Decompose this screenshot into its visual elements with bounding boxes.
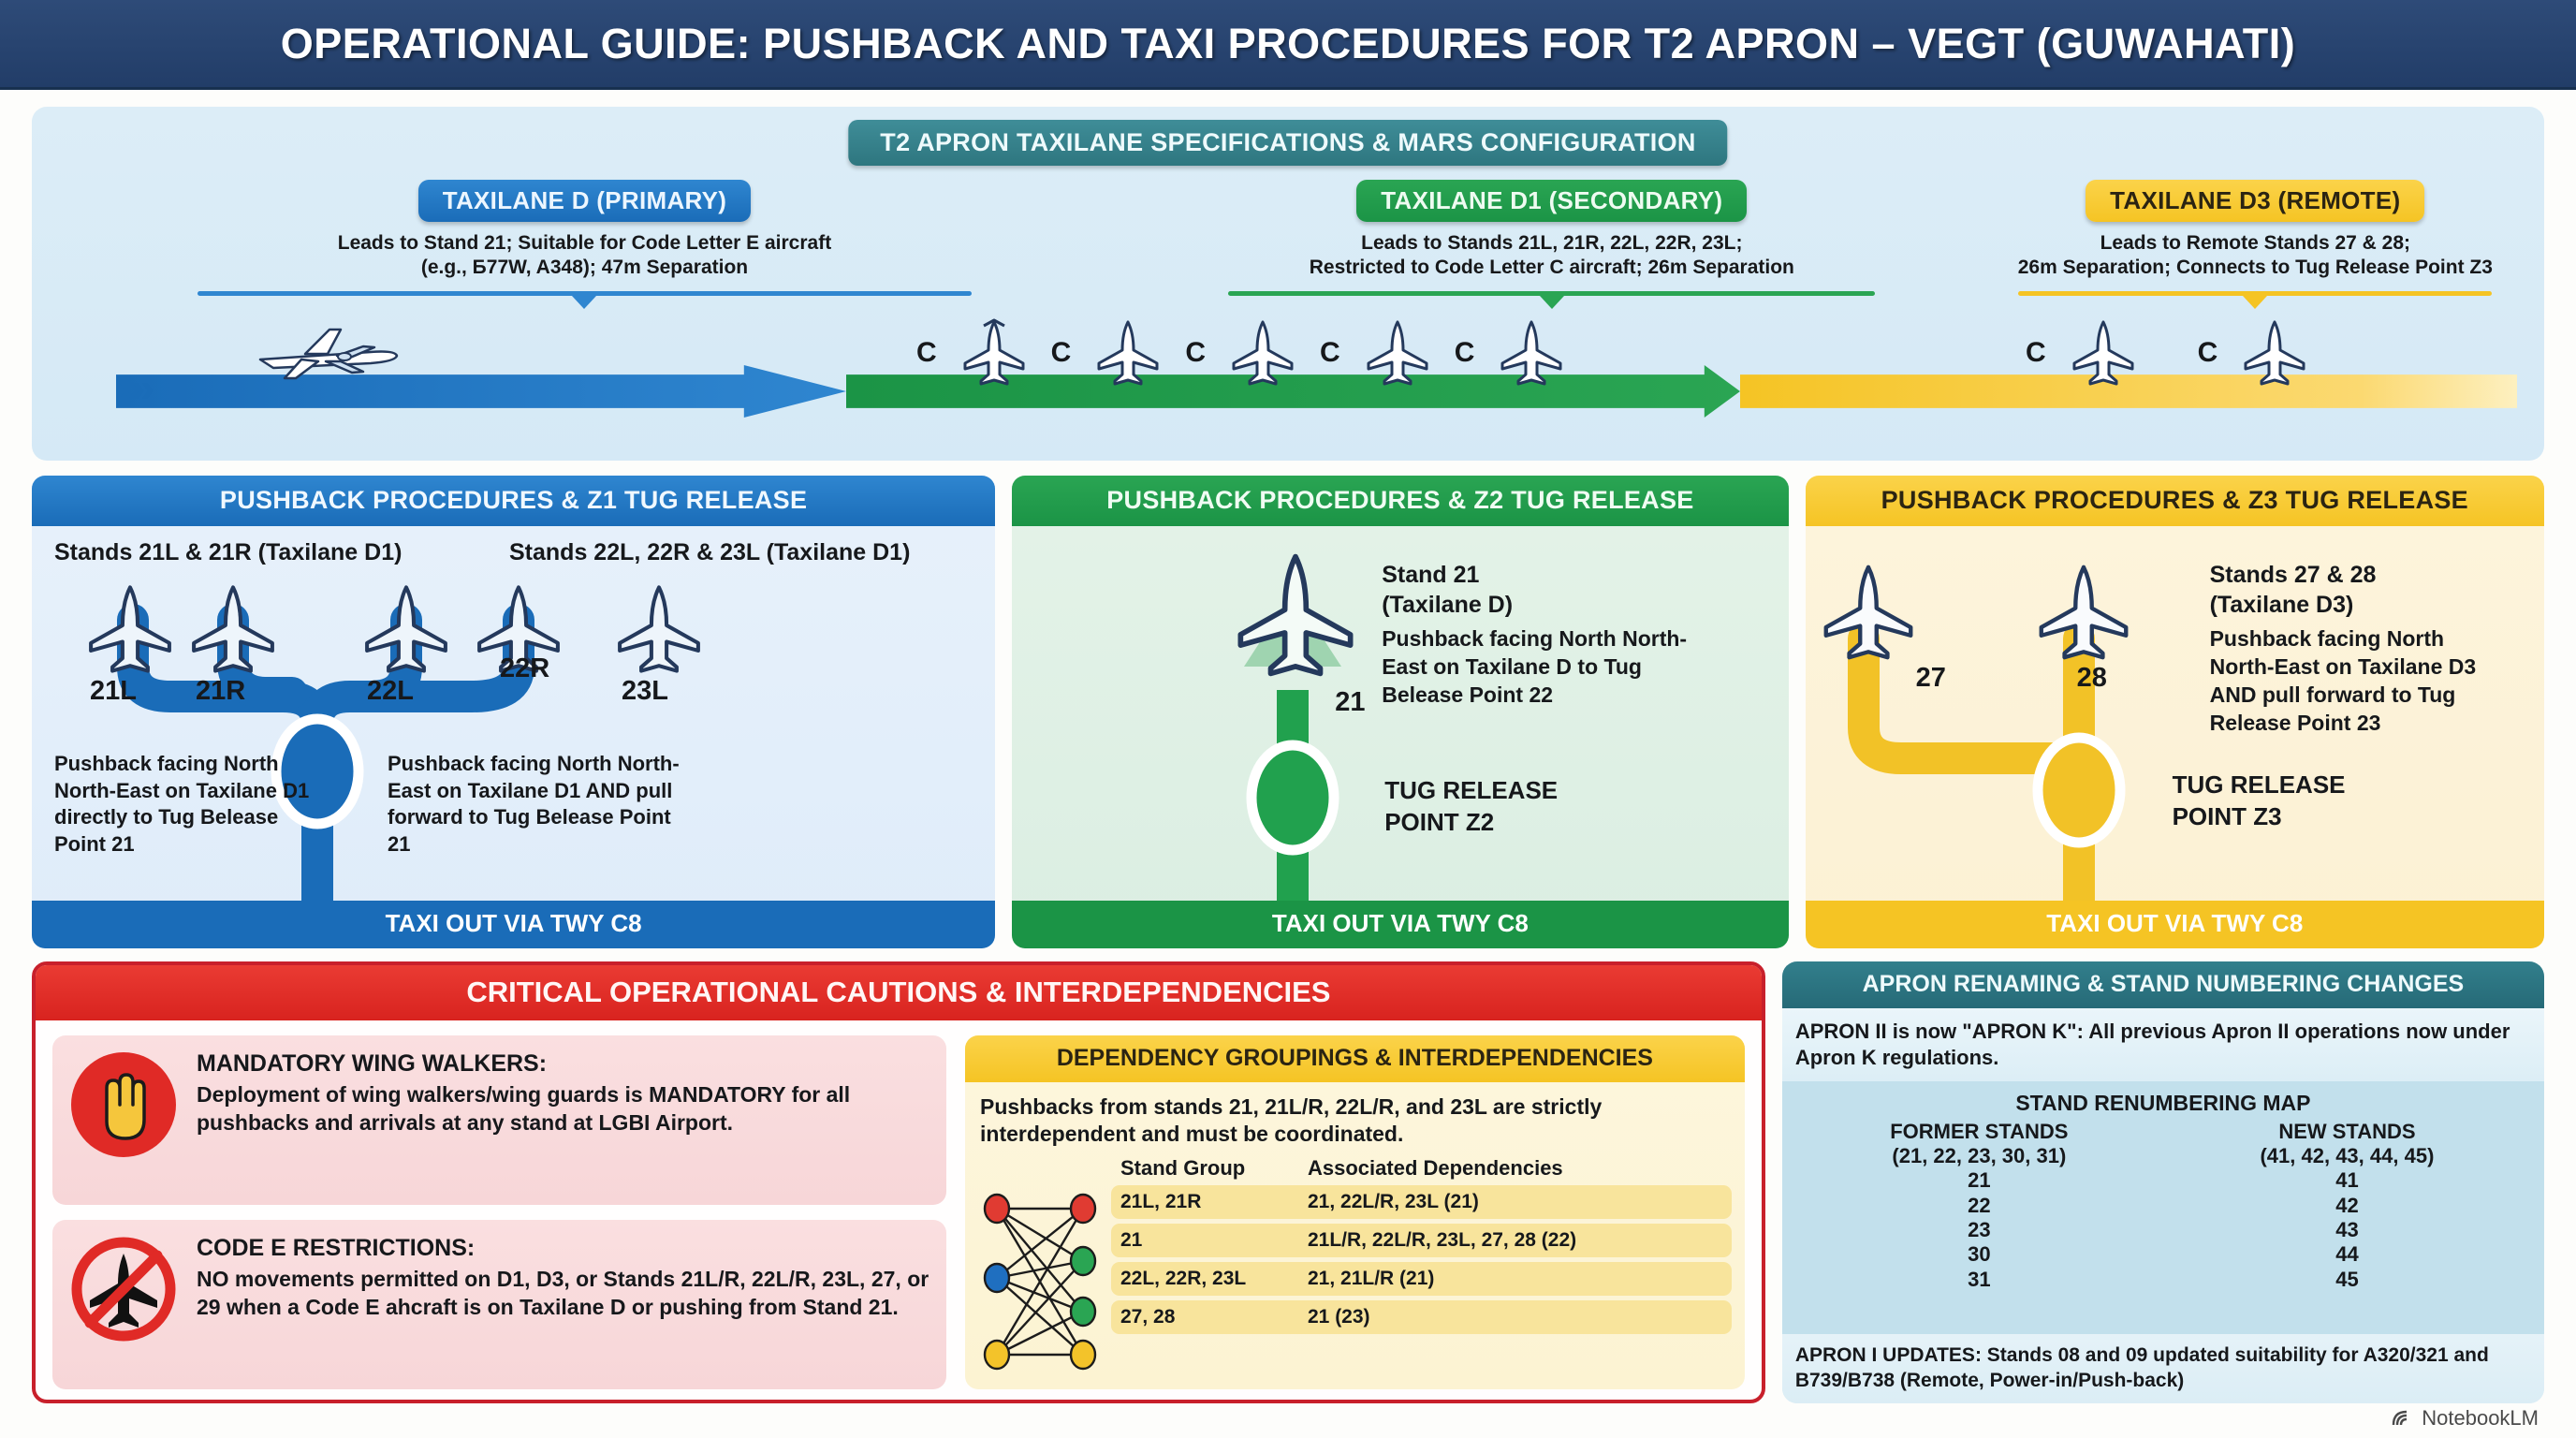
stand-label-28: 28 (2077, 663, 2107, 694)
renumber-row-3-new: 44 (2171, 1242, 2524, 1267)
infographic-page: OPERATIONAL GUIDE: PUSHBACK AND TAXI PRO… (0, 0, 2576, 1438)
z1-group-a-title: Stands 21L & 21R (Taxilane D1) (54, 539, 402, 566)
caution-code-e: CODE E RESTRICTIONS: NO movements permit… (52, 1220, 946, 1389)
taxilane-d1-notch-icon (1540, 296, 1564, 309)
dependency-row-0-group: 21L, 21R (1120, 1191, 1308, 1213)
taxilane-d1-desc-line1: Leads to Stands 21L, 21R, 22L, 22R, 23L; (1137, 231, 1967, 256)
caution-wing-walkers-text-block: MANDATORY WING WALKERS: Deployment of wi… (197, 1050, 929, 1137)
dependency-table: Stand Group Associated Dependencies 21L,… (1111, 1156, 1732, 1380)
panel-z1-body: Stands 21L & 21R (Taxilane D1) Stands 22… (32, 526, 995, 901)
table-row: 21 41 (1795, 1168, 2531, 1193)
panel-z2-body: 21 Stand 21 (Taxilane D) Pushback facing… (1012, 526, 1788, 901)
taxilane-d3-notch-icon (2243, 296, 2267, 309)
renumber-row-4-former: 31 (1803, 1268, 2156, 1292)
z3-release-line2: POINT Z3 (2173, 803, 2282, 831)
z2-route-label: 21 (1335, 687, 1365, 718)
aircraft-stand-22l-icon (355, 582, 458, 676)
stand-label-22r: 22R (500, 653, 549, 684)
dependency-title: DEPENDENCY GROUPINGS & INTERDEPENDENCIES (965, 1035, 1745, 1082)
hand-stop-icon (69, 1050, 178, 1164)
critical-cautions-panel: CRITICAL OPERATIONAL CAUTIONS & INTERDEP… (32, 961, 1765, 1403)
pushback-procedure-panels: PUSHBACK PROCEDURES & Z1 TUG RELEASE Sta… (32, 476, 2544, 948)
renumber-row-0-new: 41 (2171, 1168, 2524, 1193)
panel-z3: PUSHBACK PROCEDURES & Z3 TUG RELEASE 27 … (1806, 476, 2544, 948)
stand-renumbering-map: STAND RENUMBERING MAP FORMER STANDS (21,… (1782, 1081, 2544, 1334)
cautions-column: MANDATORY WING WALKERS: Deployment of wi… (52, 1035, 946, 1389)
taxilane-d3-desc-line2: 26m Separation; Connects to Tug Release … (1967, 256, 2544, 280)
dependency-intro: Pushbacks from stands 21, 21L/R, 22L/R, … (965, 1082, 1745, 1156)
apron-footer-note: APRON I UPDATES: Stands 08 and 09 update… (1782, 1334, 2544, 1403)
code-letter-c-4: C (1320, 337, 1340, 369)
taxilane-specifications-panel: T2 APRON TAXILANE SPECIFICATIONS & MARS … (32, 107, 2544, 461)
notebooklm-logo-icon (2390, 1406, 2414, 1431)
z3-stand-lane: (Taxilane D3) (2210, 592, 2354, 619)
taxilane-d-desc-line2: (e.g., Б77W, A348); 47m Separation (32, 256, 1137, 280)
apron-note: APRON II is now "APRON K": All previous … (1782, 1008, 2544, 1081)
taxilane-d-description: Leads to Stand 21; Suitable for Code Let… (32, 231, 1137, 280)
code-letter-c-5: C (1455, 337, 1475, 369)
taxilane-d1-pill: TAXILANE D1 (SECONDARY) (1356, 180, 1747, 222)
table-row: 27, 28 21 (23) (1111, 1300, 1732, 1334)
aircraft-top-icon-d3-1 (2067, 318, 2140, 388)
aircraft-top-icon-d3-2 (2238, 318, 2311, 388)
aircraft-top-icon-2 (1091, 318, 1164, 388)
table-row: 30 44 (1795, 1242, 2531, 1267)
taxilane-d-desc-line1: Leads to Stand 21; Suitable for Code Let… (32, 231, 1137, 256)
aircraft-side-icon (247, 318, 406, 386)
former-stands-title: FORMER STANDS (1803, 1120, 2156, 1144)
taxilane-d-pill: TAXILANE D (PRIMARY) (418, 180, 752, 222)
tug-release-marker-z2 (1251, 745, 1334, 850)
panel-z2: PUSHBACK PROCEDURES & Z2 TUG RELEASE 21 … (1012, 476, 1788, 948)
aircraft-stand-23l-icon (607, 582, 710, 676)
dependency-row-3-group: 27, 28 (1120, 1306, 1308, 1328)
code-e-aircraft-group (247, 318, 406, 386)
code-letter-c-1: C (916, 337, 937, 369)
former-stands-sub: (21, 22, 23, 30, 31) (1803, 1144, 2156, 1168)
renumber-row-1-new: 42 (2171, 1194, 2524, 1218)
z2-release-line1: TUG RELEASE (1384, 777, 1558, 805)
z1-text-group-a: Pushback facing North North-East on Taxi… (54, 751, 326, 858)
taxilane-runway-graphic: »» C C (32, 339, 2544, 418)
z3-stand-text: Pushback facing North North-East on Taxi… (2210, 625, 2495, 738)
renumber-row-0-former: 21 (1803, 1168, 2156, 1193)
former-stands-header: FORMER STANDS (21, 22, 23, 30, 31) (1803, 1120, 2156, 1168)
aircraft-top-icon-5 (1495, 318, 1568, 388)
dependency-table-header: Stand Group Associated Dependencies (1111, 1156, 1732, 1185)
panel-z1-title: PUSHBACK PROCEDURES & Z1 TUG RELEASE (32, 476, 995, 526)
dependency-main: Stand Group Associated Dependencies 21L,… (965, 1156, 1745, 1389)
stand-label-23l: 23L (622, 676, 668, 707)
no-aircraft-icon (69, 1235, 178, 1348)
z3-taxi-out-banner: TAXI OUT VIA TWY C8 (1806, 901, 2544, 948)
panel-z3-body: 27 28 Stands 27 & 28 (Taxilane D3) Pushb… (1806, 526, 2544, 901)
table-row: 23 43 (1795, 1218, 2531, 1242)
table-row: 22L, 22R, 23L 21, 21L/R (21) (1111, 1262, 1732, 1296)
renumber-row-4-new: 45 (2171, 1268, 2524, 1292)
caution-code-e-text-block: CODE E RESTRICTIONS: NO movements permit… (197, 1235, 929, 1322)
z3-release-line1: TUG RELEASE (2173, 771, 2346, 800)
aircraft-top-icon-4 (1361, 318, 1434, 388)
dependency-row-2-group: 22L, 22R, 23L (1120, 1268, 1308, 1290)
aircraft-stand-27-icon (1813, 562, 1924, 663)
aircraft-top-icon-3 (1226, 318, 1299, 388)
code-letter-c-2: C (1051, 337, 1072, 369)
caution-wing-walkers: MANDATORY WING WALKERS: Deployment of wi… (52, 1035, 946, 1205)
stand-label-21l: 21L (90, 676, 137, 707)
tug-release-marker-z3 (2038, 738, 2120, 843)
brand-label: NotebookLM (2422, 1406, 2539, 1431)
aircraft-stand-21r-icon (182, 582, 285, 676)
apron-renaming-panel: APRON RENAMING & STAND NUMBERING CHANGES… (1782, 961, 2544, 1403)
new-stands-title: NEW STANDS (2171, 1120, 2524, 1144)
aircraft-stand-21-icon (1225, 550, 1366, 681)
new-stands-sub: (41, 42, 43, 44, 45) (2171, 1144, 2524, 1168)
taxilane-d3-desc-line1: Leads to Remote Stands 27 & 28; (1967, 231, 2544, 256)
dependency-row-0-deps: 21, 22L/R, 23L (21) (1308, 1191, 1479, 1213)
z2-taxi-out-banner: TAXI OUT VIA TWY C8 (1012, 901, 1788, 948)
apron-title: APRON RENAMING & STAND NUMBERING CHANGES (1782, 961, 2544, 1008)
page-title: OPERATIONAL GUIDE: PUSHBACK AND TAXI PRO… (281, 20, 2295, 68)
stand-renumbering-rows: 21 41 22 42 23 43 30 44 (1795, 1168, 2531, 1292)
spec-banner: T2 APRON TAXILANE SPECIFICATIONS & MARS … (848, 120, 1727, 166)
stand-label-21r: 21R (196, 676, 245, 707)
stand-label-27: 27 (1916, 663, 1946, 694)
page-header: OPERATIONAL GUIDE: PUSHBACK AND TAXI PRO… (0, 0, 2576, 90)
z1-text-group-b: Pushback facing North North-East on Taxi… (388, 751, 687, 858)
new-stands-header: NEW STANDS (41, 42, 43, 44, 45) (2171, 1120, 2524, 1168)
z3-stand-title: Stands 27 & 28 (2210, 562, 2377, 589)
caution-code-e-title: CODE E RESTRICTIONS: (197, 1235, 929, 1262)
chevron-double-right-icon: »» (118, 365, 145, 412)
stand-label-22l: 22L (367, 676, 414, 707)
renumber-row-2-former: 23 (1803, 1218, 2156, 1242)
z1-taxi-out-banner: TAXI OUT VIA TWY C8 (32, 901, 995, 948)
stand-renumbering-headers: FORMER STANDS (21, 22, 23, 30, 31) NEW S… (1795, 1120, 2531, 1168)
z2-stand-lane: (Taxilane D) (1382, 592, 1513, 619)
cautions-title: CRITICAL OPERATIONAL CAUTIONS & INTERDEP… (36, 965, 1762, 1020)
dependency-row-1-group: 21 (1120, 1229, 1308, 1252)
table-row: 21L, 21R 21, 22L/R, 23L (21) (1111, 1185, 1732, 1219)
dependency-row-3-deps: 21 (23) (1308, 1306, 1370, 1328)
code-letter-c-d3-1: C (2026, 337, 2046, 369)
caution-code-e-text: NO movements permitted on D1, D3, or Sta… (197, 1266, 929, 1322)
code-letter-c-d3-2: C (2198, 337, 2218, 369)
brand-watermark: NotebookLM (2390, 1406, 2539, 1431)
code-c-aircraft-row-d1: C C C C C (916, 318, 1568, 388)
bottom-section: CRITICAL OPERATIONAL CAUTIONS & INTERDEP… (32, 961, 2544, 1403)
panel-z2-title: PUSHBACK PROCEDURES & Z2 TUG RELEASE (1012, 476, 1788, 526)
z1-group-b-title: Stands 22L, 22R & 23L (Taxilane D1) (509, 539, 910, 566)
taxilane-d1-description: Leads to Stands 21L, 21R, 22L, 22R, 23L;… (1137, 231, 1967, 280)
dependency-network-graph (978, 1156, 1102, 1380)
caution-wing-walkers-text: Deployment of wing walkers/wing guards i… (197, 1081, 929, 1137)
panel-z1: PUSHBACK PROCEDURES & Z1 TUG RELEASE Sta… (32, 476, 995, 948)
dependency-col-stand-group: Stand Group (1120, 1156, 1308, 1181)
taxilane-d-arrow (116, 365, 846, 418)
table-row: 21 21L/R, 22L/R, 23L, 27, 28 (22) (1111, 1224, 1732, 1257)
cautions-body: MANDATORY WING WALKERS: Deployment of wi… (36, 1020, 1762, 1403)
code-letter-c-3: C (1185, 337, 1206, 369)
z2-release-line2: POINT Z2 (1384, 809, 1494, 837)
aircraft-stand-21l-icon (79, 582, 182, 676)
dependency-row-1-deps: 21L/R, 22L/R, 23L, 27, 28 (22) (1308, 1229, 1576, 1252)
aircraft-top-icon-1 (958, 318, 1031, 388)
dependency-col-associated: Associated Dependencies (1308, 1156, 1563, 1181)
taxilane-d-notch-icon (572, 296, 596, 309)
code-c-aircraft-row-d3: C C (2026, 318, 2311, 388)
aircraft-stand-28-icon (2028, 562, 2139, 663)
taxilane-d3-description: Leads to Remote Stands 27 & 28; 26m Sepa… (1967, 231, 2544, 280)
dependency-groupings-panel: DEPENDENCY GROUPINGS & INTERDEPENDENCIES… (965, 1035, 1745, 1389)
taxilane-d3-pill: TAXILANE D3 (REMOTE) (2086, 180, 2424, 222)
z2-stand-text: Pushback facing North North-East on Taxi… (1382, 625, 1690, 710)
taxilane-d1-desc-line2: Restricted to Code Letter C aircraft; 26… (1137, 256, 1967, 280)
renumber-row-2-new: 43 (2171, 1218, 2524, 1242)
dependency-row-2-deps: 21, 21L/R (21) (1308, 1268, 1434, 1290)
table-row: 22 42 (1795, 1194, 2531, 1218)
renumber-row-3-former: 30 (1803, 1242, 2156, 1267)
caution-wing-walkers-title: MANDATORY WING WALKERS: (197, 1050, 929, 1078)
stand-renumbering-map-title: STAND RENUMBERING MAP (1795, 1091, 2531, 1116)
panel-z3-title: PUSHBACK PROCEDURES & Z3 TUG RELEASE (1806, 476, 2544, 526)
table-row: 31 45 (1795, 1268, 2531, 1292)
z2-stand-title: Stand 21 (1382, 562, 1479, 589)
renumber-row-1-former: 22 (1803, 1194, 2156, 1218)
